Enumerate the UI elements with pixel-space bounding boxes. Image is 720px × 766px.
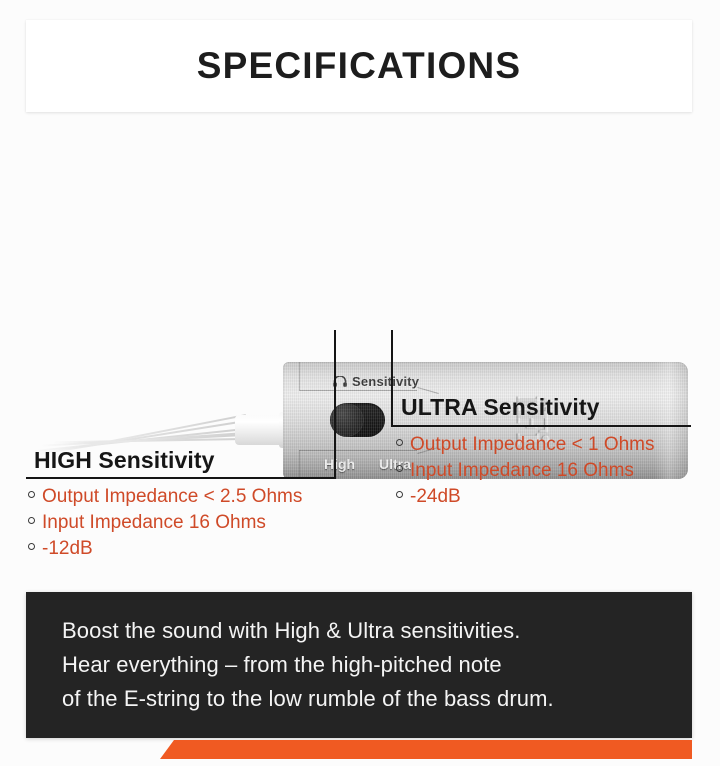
sensitivity-engraving: Sensitivity <box>333 374 419 389</box>
list-item: Input Impedance 16 Ohms <box>28 510 302 536</box>
spec-text: Input Impedance 16 Ohms <box>410 458 634 484</box>
high-spec-list: Output Impedance < 2.5 Ohms Input Impeda… <box>28 484 302 562</box>
page-title: SPECIFICATIONS <box>197 45 521 87</box>
banner-line: Hear everything – from the high-pitched … <box>62 648 554 682</box>
spec-text: Output Impedance < 1 Ohms <box>410 432 655 458</box>
bullet-icon <box>28 517 35 524</box>
list-item: -12dB <box>28 536 302 562</box>
bullet-icon <box>396 465 403 472</box>
header-card: SPECIFICATIONS <box>26 20 692 112</box>
list-item: Output Impedance < 2.5 Ohms <box>28 484 302 510</box>
switch-label-high: High <box>324 456 355 472</box>
spec-text: -12dB <box>42 536 93 562</box>
banner-line: of the E-string to the low rumble of the… <box>62 682 554 716</box>
specifications-page: SPECIFICATIONS <box>0 0 720 766</box>
high-sensitivity-title: HIGH Sensitivity <box>34 447 215 474</box>
sensitivity-toggle-switch[interactable] <box>330 403 385 437</box>
banner-text-block: Boost the sound with High & Ultra sensit… <box>62 614 554 716</box>
bullet-icon <box>28 491 35 498</box>
spec-text: Output Impedance < 2.5 Ohms <box>42 484 302 510</box>
sensitivity-label-text: Sensitivity <box>352 374 419 389</box>
spec-text: -24dB <box>410 484 461 510</box>
list-item: Output Impedance < 1 Ohms <box>396 432 655 458</box>
bullet-icon <box>396 491 403 498</box>
orange-accent-bar <box>160 740 692 759</box>
bullet-icon <box>396 439 403 446</box>
bullet-icon <box>28 543 35 550</box>
list-item: -24dB <box>396 484 655 510</box>
ultra-spec-list: Output Impedance < 1 Ohms Input Impedanc… <box>396 432 655 510</box>
spec-text: Input Impedance 16 Ohms <box>42 510 266 536</box>
banner-line: Boost the sound with High & Ultra sensit… <box>62 614 554 648</box>
marketing-banner: Boost the sound with High & Ultra sensit… <box>26 592 692 738</box>
list-item: Input Impedance 16 Ohms <box>396 458 655 484</box>
device-end-cap <box>654 362 688 479</box>
product-photo: Sensitivity High Ultra iFi <box>0 150 720 350</box>
ultra-sensitivity-title: ULTRA Sensitivity <box>401 394 600 421</box>
